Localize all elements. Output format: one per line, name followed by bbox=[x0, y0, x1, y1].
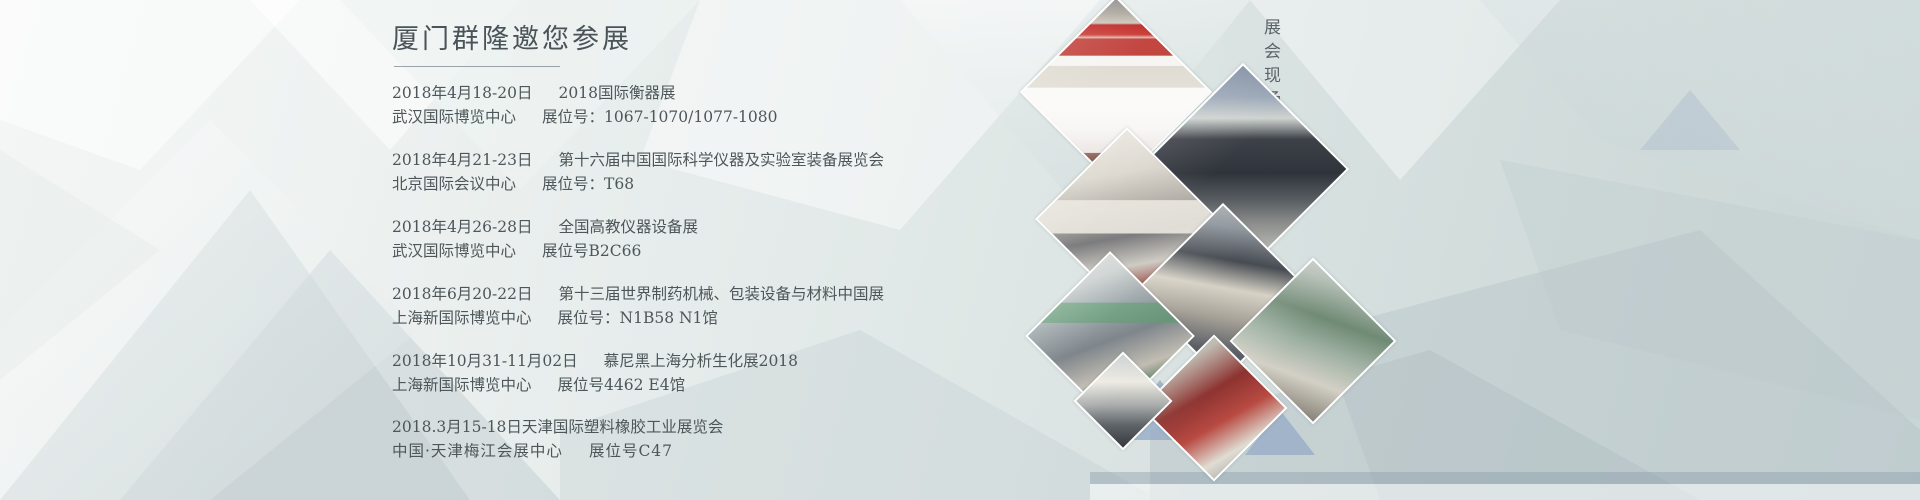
event-venue: 武汉国际博览中心 bbox=[392, 239, 516, 263]
event-date: 2018年4月18-20日 bbox=[392, 81, 533, 105]
event-booth: 展位号C47 bbox=[589, 442, 673, 460]
event-row-secondary: 上海新国际博览中心展位号4462 E4馆 bbox=[392, 373, 1032, 397]
event-row-secondary: 武汉国际博览中心展位号：1067-1070/1077-1080 bbox=[392, 105, 1032, 129]
event-booth: 展位号：N1B58 N1馆 bbox=[558, 309, 718, 327]
event-item[interactable]: 2018年4月18-20日2018国际衡器展 武汉国际博览中心展位号：1067-… bbox=[392, 81, 1032, 129]
event-booth: 展位号：1067-1070/1077-1080 bbox=[542, 108, 777, 126]
exhibition-banner: 厦门群隆邀您参展 2018年4月18-20日2018国际衡器展 武汉国际博览中心… bbox=[0, 0, 1920, 500]
event-row-secondary: 中国·天津梅江会展中心展位号C47 bbox=[392, 440, 1032, 463]
event-item[interactable]: 2018年6月20-22日第十三届世界制药机械、包装设备与材料中国展 上海新国际… bbox=[392, 282, 1032, 330]
title-underline bbox=[394, 66, 560, 67]
event-venue: 上海新国际博览中心 bbox=[392, 306, 532, 330]
event-item[interactable]: 2018年4月21-23日第十六届中国国际科学仪器及实验室装备展览会 北京国际会… bbox=[392, 148, 1032, 196]
event-date: 2018年4月26-28日 bbox=[392, 215, 533, 239]
event-row-secondary: 武汉国际博览中心展位号B2C66 bbox=[392, 239, 1032, 263]
page-title: 厦门群隆邀您参展 bbox=[392, 22, 1032, 57]
event-name: 第十六届中国国际科学仪器及实验室装备展览会 bbox=[559, 151, 885, 169]
event-date: 2018年4月21-23日 bbox=[392, 148, 533, 172]
event-name: 慕尼黑上海分析生化展2018 bbox=[604, 352, 798, 370]
event-item[interactable]: 2018.3月15-18日天津国际塑料橡胶工业展览会 中国·天津梅江会展中心展位… bbox=[392, 416, 1032, 463]
event-booth: 展位号4462 E4馆 bbox=[558, 376, 686, 394]
event-venue: 上海新国际博览中心 bbox=[392, 373, 532, 397]
event-item[interactable]: 2018年10月31-11月02日慕尼黑上海分析生化展2018 上海新国际博览中… bbox=[392, 349, 1032, 397]
event-row-secondary: 北京国际会议中心展位号：T68 bbox=[392, 172, 1032, 196]
event-row-primary: 2018年4月18-20日2018国际衡器展 bbox=[392, 81, 1032, 105]
event-row-secondary: 上海新国际博览中心展位号：N1B58 N1馆 bbox=[392, 306, 1032, 330]
event-list-panel: 厦门群隆邀您参展 2018年4月18-20日2018国际衡器展 武汉国际博览中心… bbox=[392, 22, 1032, 482]
event-venue: 北京国际会议中心 bbox=[392, 172, 516, 196]
event-date: 2018年10月31-11月02日 bbox=[392, 349, 578, 373]
event-row-primary: 2018年6月20-22日第十三届世界制药机械、包装设备与材料中国展 bbox=[392, 282, 1032, 306]
event-booth: 展位号：T68 bbox=[542, 175, 634, 193]
event-item[interactable]: 2018年4月26-28日全国高教仪器设备展 武汉国际博览中心展位号B2C66 bbox=[392, 215, 1032, 263]
event-row-primary: 2018年10月31-11月02日慕尼黑上海分析生化展2018 bbox=[392, 349, 1032, 373]
event-booth: 展位号B2C66 bbox=[542, 242, 641, 260]
event-row-primary: 2018年4月26-28日全国高教仪器设备展 bbox=[392, 215, 1032, 239]
event-date: 2018年6月20-22日 bbox=[392, 282, 533, 306]
event-row-primary: 2018.3月15-18日天津国际塑料橡胶工业展览会 bbox=[392, 416, 1032, 439]
event-name: 第十三届世界制药机械、包装设备与材料中国展 bbox=[559, 285, 885, 303]
event-venue: 中国·天津梅江会展中心 bbox=[392, 440, 563, 463]
photo-collage bbox=[1040, 0, 1460, 500]
event-name: 2018国际衡器展 bbox=[559, 84, 676, 102]
event-venue: 武汉国际博览中心 bbox=[392, 105, 516, 129]
event-date: 2018.3月15-18日天津国际塑料橡胶工业展览会 bbox=[392, 416, 723, 439]
event-row-primary: 2018年4月21-23日第十六届中国国际科学仪器及实验室装备展览会 bbox=[392, 148, 1032, 172]
event-name: 全国高教仪器设备展 bbox=[559, 218, 699, 236]
